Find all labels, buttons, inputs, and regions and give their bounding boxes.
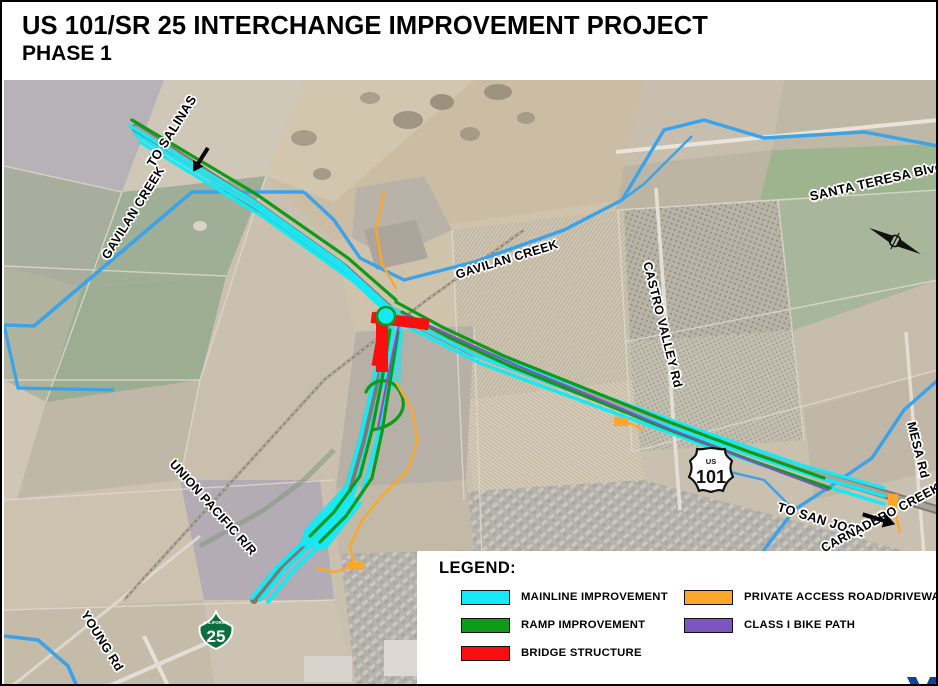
legend-label-bike-path: CLASS I BIKE PATH (744, 619, 855, 631)
legend-item-private-access: PRIVATE ACCESS ROAD/DRIVEWAY (684, 585, 938, 609)
legend-swatch-bridge (461, 646, 510, 661)
legend-item-mainline: MAINLINE IMPROVEMENT (461, 585, 668, 609)
legend-swatch-ramp (461, 618, 510, 633)
us-shield-number: 101 (696, 467, 726, 487)
page-subtitle: PHASE 1 (22, 41, 938, 66)
to-san-jose-arrow (856, 504, 900, 534)
legend-label-private-access: PRIVATE ACCESS ROAD/DRIVEWAY (744, 591, 938, 603)
legend-label-ramp: RAMP IMPROVEMENT (521, 619, 645, 631)
legend-panel: LEGEND: MAINLINE IMPROVEMENT RAMP IMPROV… (417, 551, 936, 686)
sr-shield-banner: CALIFORNIA (203, 620, 229, 625)
legend-label-bridge: BRIDGE STRUCTURE (521, 647, 642, 659)
legend-item-bridge: BRIDGE STRUCTURE (461, 641, 668, 665)
legend-item-bike-path: CLASS I BIKE PATH (684, 613, 938, 637)
legend-swatch-mainline (461, 590, 510, 605)
logo-row: Valley Transportation Authority (906, 663, 938, 686)
to-salinas-arrow (184, 144, 218, 174)
project-exhibit-page: US 101/SR 25 INTERCHANGE IMPROVEMENT PRO… (0, 0, 938, 686)
legend-swatch-private-access (684, 590, 733, 605)
us-shield-banner: US (706, 457, 716, 466)
vta-logo: Valley Transportation Authority (906, 671, 938, 686)
legend-swatch-bike-path (684, 618, 733, 633)
title-block: US 101/SR 25 INTERCHANGE IMPROVEMENT PRO… (2, 2, 938, 80)
legend-column-left: MAINLINE IMPROVEMENT RAMP IMPROVEMENT BR… (461, 585, 668, 669)
page-title: US 101/SR 25 INTERCHANGE IMPROVEMENT PRO… (22, 12, 938, 41)
legend-label-mainline: MAINLINE IMPROVEMENT (521, 591, 668, 603)
vta-mark-icon (906, 671, 938, 686)
us-101-shield: US 101 (687, 447, 735, 493)
north-arrow-icon (862, 210, 928, 272)
legend-column-right: PRIVATE ACCESS ROAD/DRIVEWAY CLASS I BIK… (684, 585, 938, 641)
legend-columns: MAINLINE IMPROVEMENT RAMP IMPROVEMENT BR… (439, 585, 936, 649)
sr-25-shield: CALIFORNIA 25 (195, 609, 237, 651)
legend-heading: LEGEND: (439, 559, 936, 578)
sr-shield-number: 25 (207, 627, 226, 646)
legend-item-ramp: RAMP IMPROVEMENT (461, 613, 668, 637)
